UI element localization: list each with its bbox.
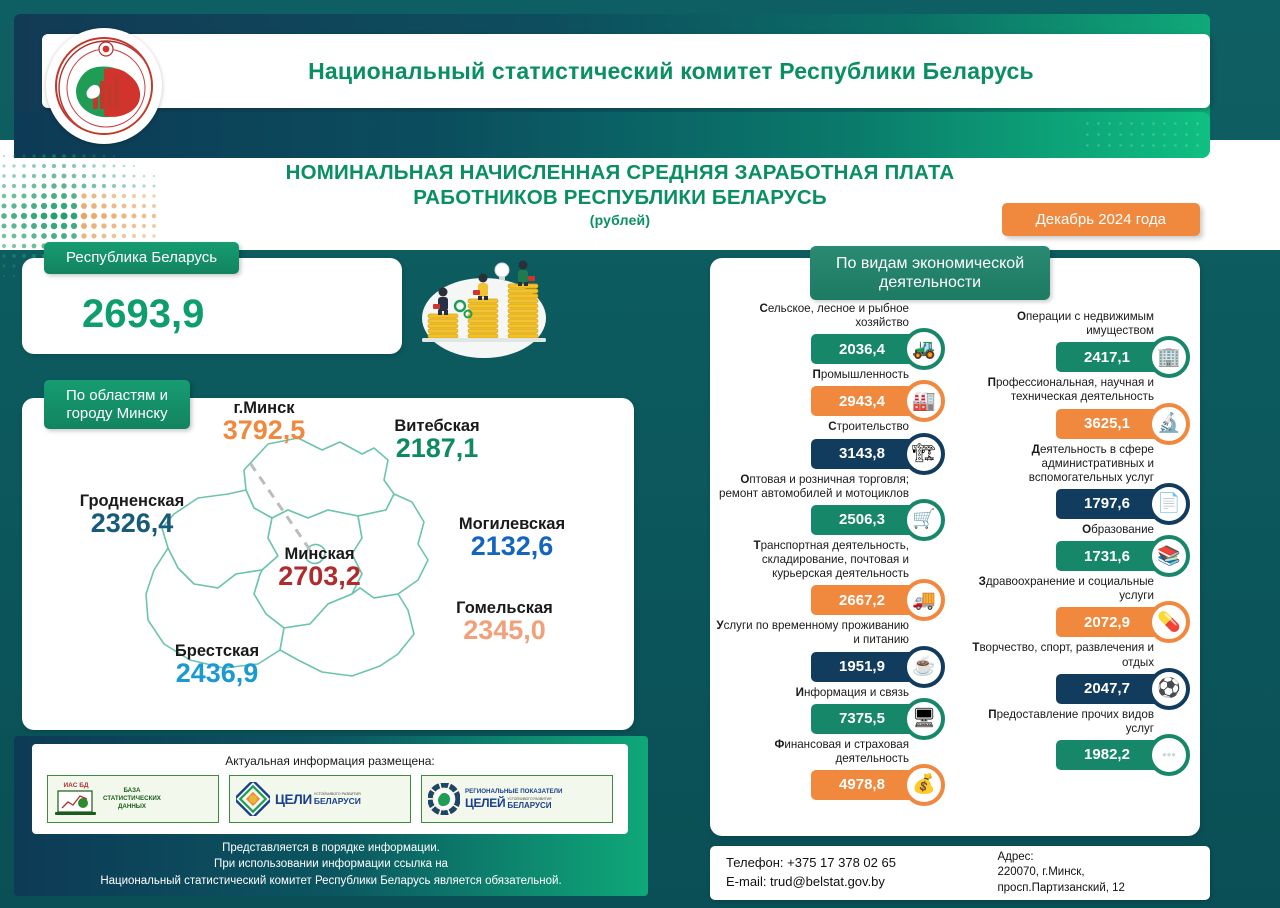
contact-right: Адрес: 220070, г.Минск, просп.Партизанск…	[997, 850, 1125, 897]
region-label-minsk-city: г.Минск 3792,5	[194, 400, 334, 445]
sdg-diamond-icon	[236, 782, 270, 816]
region-value: 2436,9	[132, 659, 302, 687]
regions-tab-label: По областям и городу Минску	[44, 380, 190, 429]
economy-tab-label: По видам экономической деятельности	[810, 246, 1050, 300]
region-label-vitebsk: Витебская 2187,1	[352, 418, 522, 463]
building-icon: 🏢	[1148, 336, 1190, 378]
economy-item-label: Финансовая и страховая деятельность	[710, 738, 955, 766]
economy-item-badge: 4978,8💰	[710, 768, 955, 802]
economy-item-badge: 3625,1🔬	[955, 407, 1200, 441]
disclaimer-line-1: Представляется в порядке информации.	[14, 840, 648, 856]
economy-item-label: Операции с недвижимым имуществом	[955, 310, 1200, 338]
tractor-icon: 🚜	[903, 328, 945, 370]
resource-logos: ИАС БД БАЗА СТАТИСТИЧЕСКИХ ДАННЫХ	[47, 775, 613, 823]
address-line-1: 220070, г.Минск,	[997, 865, 1125, 881]
cafe-icon: ☕	[903, 646, 945, 688]
emblem-seal	[55, 37, 153, 135]
economy-item: Промышленность2943,4🏭	[710, 368, 955, 418]
economy-item-value: 1982,2	[1056, 740, 1160, 770]
period-badge: Декабрь 2024 года	[1002, 203, 1200, 236]
economy-item: Строительство3143,8🏗	[710, 420, 955, 470]
contact-email[interactable]: E-mail: trud@belstat.gov.by	[726, 873, 997, 892]
computer-icon: 🖥	[903, 698, 945, 740]
region-label-gomel: Гомельская 2345,0	[412, 600, 597, 645]
region-value: 2326,4	[42, 509, 222, 537]
economy-item: Деятельность в сфере административных и …	[955, 443, 1200, 521]
economy-item: Здравоохранение и социальные услуги2072,…	[955, 575, 1200, 639]
header-white-panel: Национальный статистический комитет Респ…	[42, 34, 1210, 108]
economy-right-column: Операции с недвижимым имуществом2417,1🏢П…	[955, 302, 1200, 774]
coins-chart-icon: 💰	[903, 764, 945, 806]
economy-item-badge: 2506,3🛒	[710, 503, 955, 537]
republic-card: Республика Беларусь 2693,9	[22, 258, 402, 354]
region-label-brest: Брестская 2436,9	[132, 643, 302, 688]
economy-item-badge: 1982,2•••	[955, 738, 1200, 772]
economy-item-label: Оптовая и розничная торговля; ремонт авт…	[710, 473, 955, 501]
economy-item-value: 2943,4	[811, 386, 915, 416]
economy-item-label: Транспортная деятельность, складирование…	[710, 539, 955, 581]
region-label-mogilev: Могилевская 2132,6	[417, 516, 607, 561]
economy-item-label: Услуги по временному проживанию и питани…	[710, 619, 955, 647]
dots-icon: •••	[1148, 734, 1190, 776]
economy-item-value: 1731,6	[1056, 541, 1160, 571]
coins-illustration-svg	[412, 256, 562, 366]
economy-item-value: 3625,1	[1056, 409, 1160, 439]
economy-item: Транспортная деятельность, складирование…	[710, 539, 955, 617]
economy-item-badge: 2417,1🏢	[955, 340, 1200, 374]
right-column: По видам экономической деятельности Сель…	[710, 258, 1200, 836]
economy-item-value: 1797,6	[1056, 489, 1160, 519]
republic-tab-label: Республика Беларусь	[44, 242, 239, 274]
sports-icon: ⚽	[1148, 668, 1190, 710]
economy-item-badge: 1731,6📚	[955, 539, 1200, 573]
economy-item-badge: 1797,6📄	[955, 487, 1200, 521]
logo-regional-country: БЕЛАРУСИ	[507, 801, 551, 810]
shopping-cart-icon: 🛒	[903, 499, 945, 541]
economy-item-value: 1951,9	[811, 652, 915, 682]
logo-sdg-word: ЦЕЛИ	[275, 792, 312, 807]
logo-database-text: БАЗА СТАТИСТИЧЕСКИХ ДАННЫХ	[103, 787, 161, 810]
economy-item-badge: 2943,4🏭	[710, 384, 955, 418]
economy-item: Предоставление прочих видов услуг1982,2•…	[955, 708, 1200, 772]
economy-item: Информация и связь7375,5🖥	[710, 686, 955, 736]
economy-item: Финансовая и страховая деятельность4978,…	[710, 738, 955, 802]
address-line-2: просп.Партизанский, 12	[997, 881, 1125, 897]
economy-item: Творчество, спорт, развлечения и отдых20…	[955, 641, 1200, 705]
economy-item: Операции с недвижимым имуществом2417,1🏢	[955, 310, 1200, 374]
economy-item: Образование1731,6📚	[955, 523, 1200, 573]
logo-regional-word: ЦЕЛЕЙ	[465, 796, 505, 810]
region-value: 2703,2	[237, 562, 402, 590]
title-units: (рублей)	[190, 212, 1050, 229]
economy-item: Профессиональная, научная и техническая …	[955, 376, 1200, 440]
left-column: Республика Беларусь 2693,9	[14, 258, 674, 730]
economy-item-badge: 3143,8🏗	[710, 437, 955, 471]
economy-item: Оптовая и розничная торговля; ремонт авт…	[710, 473, 955, 537]
economy-item-value: 2047,7	[1056, 674, 1160, 704]
economy-item-value: 2506,3	[811, 505, 915, 535]
economy-columns: Сельское, лесное и рыбное хозяйство2036,…	[710, 302, 1200, 836]
band-dots-decoration	[1082, 118, 1202, 152]
microscope-icon: 🔬	[1148, 403, 1190, 445]
republic-value: 2693,9	[82, 292, 204, 337]
regions-tab-line-2: городу Минску	[66, 405, 167, 422]
logo-regional-line1: РЕГИОНАЛЬНЫЕ ПОКАЗАТЕЛИ	[465, 788, 562, 795]
regions-map-card: По областям и городу Минску	[22, 398, 634, 730]
economy-item-value: 2072,9	[1056, 607, 1160, 637]
disclaimer-line-3: Национальный статистический комитет Респ…	[14, 873, 648, 889]
economy-left-column: Сельское, лесное и рыбное хозяйство2036,…	[710, 302, 955, 804]
economy-item-value: 2036,4	[811, 334, 915, 364]
economy-item-value: 4978,8	[811, 770, 915, 800]
economy-item-badge: 2667,2🚚	[710, 583, 955, 617]
title-line-1: НОМИНАЛЬНАЯ НАЧИСЛЕННАЯ СРЕДНЯЯ ЗАРАБОТН…	[286, 161, 955, 184]
logo-database-tag: ИАС БД	[63, 782, 88, 789]
region-value: 3792,5	[194, 416, 334, 444]
economy-item-value: 3143,8	[811, 439, 915, 469]
disclaimer-line-2: При использовании информации ссылка на	[14, 856, 648, 872]
economy-tab-line-2: деятельности	[879, 274, 981, 291]
economy-item-value: 7375,5	[811, 704, 915, 734]
economy-item-label: Строительство	[710, 420, 955, 434]
region-value: 2187,1	[352, 434, 522, 462]
economy-item: Услуги по временному проживанию и питани…	[710, 619, 955, 683]
contact-bar: Телефон: +375 17 378 02 65 E-mail: trud@…	[710, 846, 1210, 900]
books-icon: 📚	[1148, 535, 1190, 577]
header-gradient-band	[14, 112, 1210, 158]
address-label: Адрес:	[997, 850, 1125, 866]
coins-people-illustration	[412, 256, 562, 366]
region-label-minsk-region: Минская 2703,2	[237, 546, 402, 591]
economy-item-label: Сельское, лесное и рыбное хозяйство	[710, 302, 955, 330]
belarus-statistics-emblem	[46, 28, 162, 144]
economic-activities-card: По видам экономической деятельности Сель…	[710, 258, 1200, 836]
region-label-grodno: Гродненская 2326,4	[42, 493, 222, 538]
crane-icon: 🏗	[903, 433, 945, 475]
logo-regional-sdg[interactable]: РЕГИОНАЛЬНЫЕ ПОКАЗАТЕЛИ ЦЕЛЕЙ УСТОЙЧИВОГ…	[421, 775, 613, 823]
medical-icon: 💊	[1148, 601, 1190, 643]
emblem-svg	[57, 39, 153, 135]
contact-phone: Телефон: +375 17 378 02 65	[726, 854, 997, 873]
economy-tab-line-1: По видам экономической	[836, 255, 1024, 272]
region-value: 2132,6	[417, 532, 607, 560]
regions-tab-line-1: По областям и	[66, 387, 168, 404]
economy-item-label: Здравоохранение и социальные услуги	[955, 575, 1200, 603]
truck-icon: 🚚	[903, 579, 945, 621]
sdg-wheel-icon	[428, 783, 460, 815]
footer-left-panel: Актуальная информация размещена: ИАС БД …	[14, 736, 648, 896]
economy-item-badge: 2047,7⚽	[955, 672, 1200, 706]
economy-item-value: 2667,2	[811, 585, 915, 615]
economy-item-badge: 1951,9☕	[710, 650, 955, 684]
logo-sdg-belarus[interactable]: ЦЕЛИ УСТОЙЧИВОГО РАЗВИТИЯ БЕЛАРУСИ	[229, 775, 411, 823]
logo-sdg-country: БЕЛАРУСИ	[314, 796, 361, 806]
resources-title: Актуальная информация размещена:	[225, 754, 435, 768]
logo-database[interactable]: ИАС БД БАЗА СТАТИСТИЧЕСКИХ ДАННЫХ	[47, 775, 219, 823]
economy-item-badge: 2072,9💊	[955, 605, 1200, 639]
region-value: 2345,0	[412, 616, 597, 644]
page-title: НОМИНАЛЬНАЯ НАЧИСЛЕННАЯ СРЕДНЯЯ ЗАРАБОТН…	[190, 160, 1050, 229]
laptop-chart-icon	[54, 789, 98, 817]
economy-item-label: Предоставление прочих видов услуг	[955, 708, 1200, 736]
economy-item-badge: 2036,4🚜	[710, 332, 955, 366]
economy-item-badge: 7375,5🖥	[710, 702, 955, 736]
organization-title: Национальный статистический комитет Респ…	[218, 58, 1034, 85]
economy-item: Сельское, лесное и рыбное хозяйство2036,…	[710, 302, 955, 366]
footer-disclaimer: Представляется в порядке информации. При…	[14, 840, 648, 889]
contact-left: Телефон: +375 17 378 02 65 E-mail: trud@…	[726, 854, 997, 892]
factory-icon: 🏭	[903, 380, 945, 422]
economy-item-label: Творчество, спорт, развлечения и отдых	[955, 641, 1200, 669]
economy-item-value: 2417,1	[1056, 342, 1160, 372]
resources-panel: Актуальная информация размещена: ИАС БД …	[32, 744, 628, 834]
documents-icon: 📄	[1148, 483, 1190, 525]
title-line-2: РАБОТНИКОВ РЕСПУБЛИКИ БЕЛАРУСЬ	[413, 186, 827, 209]
economy-item-label: Профессиональная, научная и техническая …	[955, 376, 1200, 404]
economy-item-label: Деятельность в сфере административных и …	[955, 443, 1200, 485]
